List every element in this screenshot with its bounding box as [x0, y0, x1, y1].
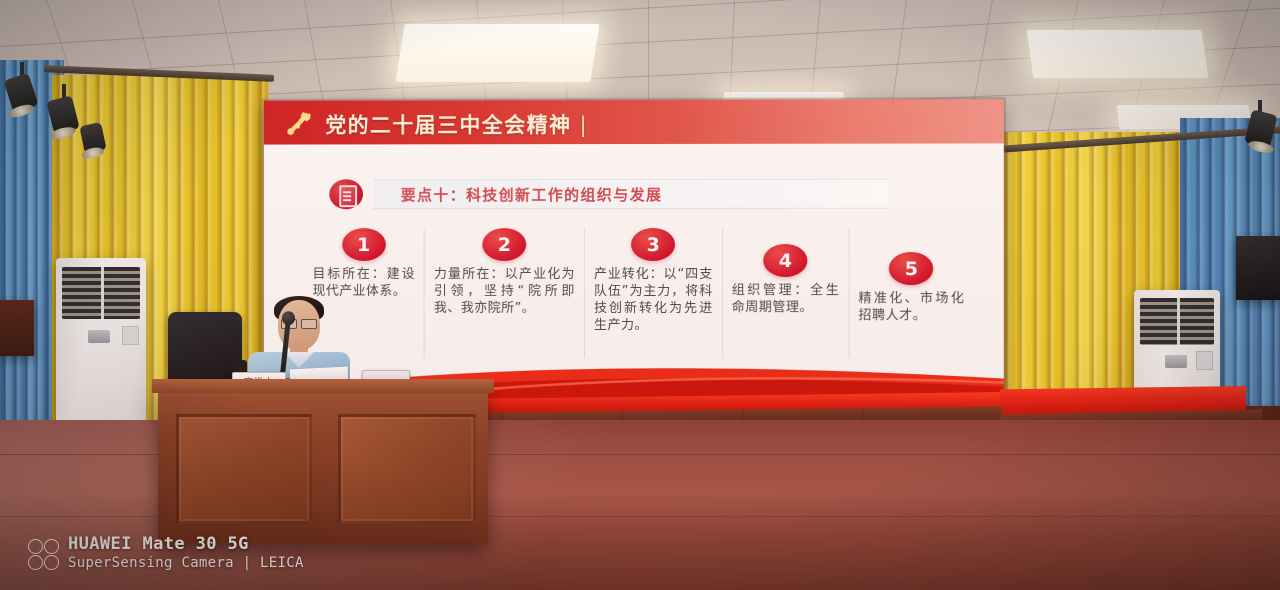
conference-hall-photo: 党的二十届三中全会精神| 要点十：科技创新工作的组织与发展 1 目标所在：建设现…	[0, 0, 1280, 590]
number-badge-4-label: 4	[763, 244, 807, 277]
number-badge-2-label: 2	[482, 228, 526, 261]
slide-column-5-text: 精准化、市场化招聘人才。	[858, 290, 964, 324]
speaker-box-right	[1236, 236, 1280, 300]
slide-subtitle-text: 要点十：科技创新工作的组织与发展	[401, 183, 663, 204]
document-badge-icon	[329, 179, 363, 209]
ceiling-light-1	[395, 24, 599, 82]
slide-column-4: 4 组织管理：全生命周期管理。	[722, 228, 849, 358]
podium-panel-left	[176, 414, 312, 524]
slide-header-band: 党的二十届三中全会精神|	[264, 99, 1004, 144]
slide-subtitle-box: 要点十：科技创新工作的组织与发展	[373, 179, 889, 209]
slide-column-2-text: 力量所在：以产业化为引领，坚持“院所即我、我亦院所”。	[434, 266, 575, 317]
presenter-podium	[158, 388, 488, 543]
watermark-device: HUAWEI Mate 30 5G	[68, 534, 304, 555]
quad-camera-icon	[28, 539, 57, 568]
slide-column-3: 3 产业转化：以“四支队伍”为主力，将科技创新转化为先进生产力。	[584, 228, 722, 358]
slide-column-5: 5 精准化、市场化招聘人才。	[848, 228, 973, 359]
number-badge-4: 4	[763, 244, 807, 277]
slide-column-3-text: 产业转化：以“四支队伍”为主力，将科技创新转化为先进生产力。	[594, 266, 713, 334]
slide-column-4-text: 组织管理：全生命周期管理。	[732, 282, 840, 316]
number-badge-5: 5	[889, 252, 933, 285]
number-badge-2: 2	[482, 228, 526, 261]
number-badge-1-label: 1	[342, 228, 386, 261]
right-spotlight-cluster	[1246, 100, 1280, 170]
number-badge-1: 1	[342, 228, 386, 261]
slide-title-text: 党的二十届三中全会精神	[325, 113, 571, 137]
podium-panel-right	[338, 414, 476, 524]
podium-top-edge	[152, 379, 494, 393]
cpc-hammer-sickle-emblem	[284, 109, 318, 137]
number-badge-5-label: 5	[889, 252, 933, 285]
slide-title-divider: |	[580, 113, 589, 137]
number-badge-3: 3	[631, 228, 675, 261]
side-cabinet-left	[0, 300, 34, 356]
watermark-text: HUAWEI Mate 30 5G SuperSensing Camera | …	[68, 534, 304, 572]
slide-title: 党的二十届三中全会精神|	[325, 109, 588, 139]
camera-watermark: HUAWEI Mate 30 5G SuperSensing Camera | …	[28, 534, 304, 572]
presentation-screen: 党的二十届三中全会精神| 要点十：科技创新工作的组织与发展 1 目标所在：建设现…	[264, 99, 1004, 409]
watermark-camera: SuperSensing Camera | LEICA	[68, 555, 304, 572]
slide-column-2: 2 力量所在：以产业化为引领，坚持“院所即我、我亦院所”。	[424, 228, 584, 358]
number-badge-3-label: 3	[631, 228, 675, 261]
slide-subtitle-row: 要点十：科技创新工作的组织与发展	[329, 178, 889, 210]
slide-columns: 1 目标所在：建设现代产业体系。 2 力量所在：以产业化为引领，坚持“院所即我、…	[304, 228, 974, 359]
left-spotlight-cluster	[2, 62, 132, 182]
slide-column-1-text: 目标所在：建设现代产业体系。	[312, 266, 415, 300]
ceiling-light-2	[1027, 30, 1209, 78]
